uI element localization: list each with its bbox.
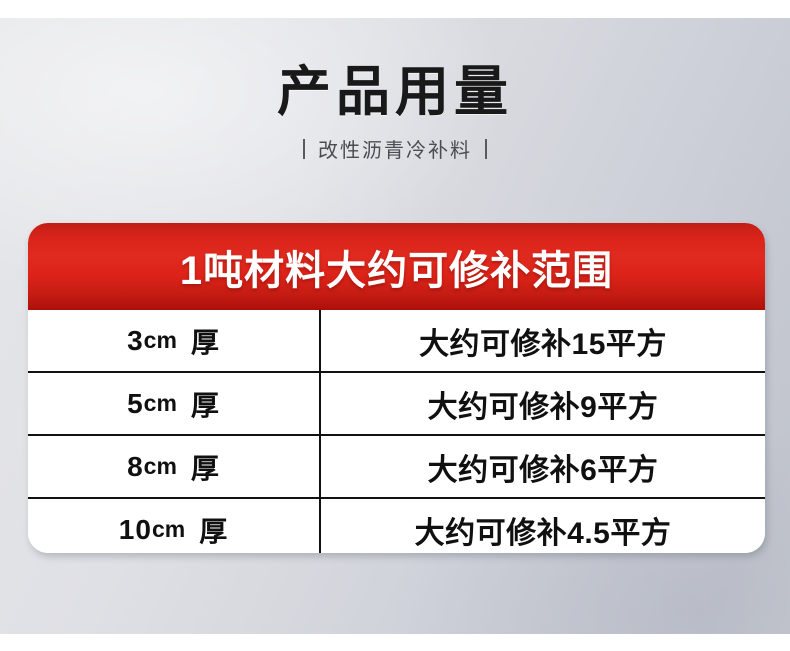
thickness-value: 10 [119,514,152,546]
cell-thickness: 5cm厚 [28,373,321,434]
cell-coverage: 大约可修补4.5平方 [321,499,765,553]
thickness-label: 厚 [199,510,228,550]
thickness-unit: cm [144,390,177,417]
table-header-band: 1吨材料大约可修补范围 [28,223,765,310]
thickness-value: 8 [127,451,144,483]
table-row: 10cm厚 大约可修补4.5平方 [28,499,765,553]
cell-thickness: 10cm厚 [28,499,321,553]
cell-coverage: 大约可修补9平方 [321,373,765,434]
header-block: 产品用量 改性沥青冷补料 [0,62,790,163]
page-title: 产品用量 [0,62,790,122]
product-usage-infographic: 产品用量 改性沥青冷补料 1吨材料大约可修补范围 3cm厚 大约可修补15平方 … [0,0,790,651]
table-row: 8cm厚 大约可修补6平方 [28,436,765,499]
usage-table: 3cm厚 大约可修补15平方 5cm厚 大约可修补9平方 8cm厚 大约可修补6… [28,310,765,553]
thickness-unit: cm [152,516,185,543]
cell-thickness: 3cm厚 [28,310,321,371]
thickness-value: 3 [127,325,144,357]
cell-coverage: 大约可修补6平方 [321,436,765,497]
cell-thickness: 8cm厚 [28,436,321,497]
thickness-unit: cm [144,453,177,480]
subtitle-row: 改性沥青冷补料 [0,134,790,163]
thickness-value: 5 [127,388,144,420]
cell-coverage: 大约可修补15平方 [321,310,765,371]
usage-table-card: 1吨材料大约可修补范围 3cm厚 大约可修补15平方 5cm厚 大约可修补9平方… [28,223,765,553]
subtitle-right-bar-icon [485,139,487,159]
subtitle-text: 改性沥青冷补料 [318,134,472,163]
table-header-title: 1吨材料大约可修补范围 [180,238,613,296]
thickness-label: 厚 [191,447,220,487]
thickness-unit: cm [144,327,177,354]
thickness-label: 厚 [191,384,220,424]
subtitle-left-bar-icon [303,139,305,159]
table-row: 3cm厚 大约可修补15平方 [28,310,765,373]
thickness-label: 厚 [191,321,220,361]
table-row: 5cm厚 大约可修补9平方 [28,373,765,436]
